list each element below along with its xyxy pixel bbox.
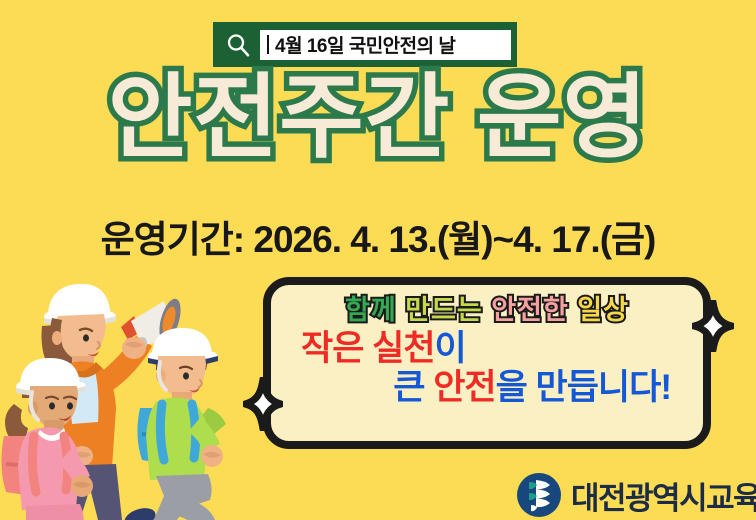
sparkle-icon: [692, 300, 734, 352]
slogan-line-2: 작은 실천이: [287, 329, 687, 368]
slogan-speech-bubble: 함께 만드는 안전한 일상 작은 실천이 큰 안전을 만듭니다!: [263, 277, 711, 449]
page-title: 안전주간 운영: [0, 72, 756, 164]
daejeon-education-office-emblem-icon: [516, 472, 562, 518]
slogan-line-3-red: 안전: [433, 368, 495, 407]
slogan-line-3-blue-a: 큰: [393, 368, 433, 407]
search-input-value: 4월 16일 국민안전의 날: [275, 31, 455, 58]
slogan-line-3: 큰 안전을 만듭니다!: [287, 368, 687, 407]
organization-name: 대전광역시교육청: [571, 473, 756, 518]
slogan-line-2-red: 작은 실천: [301, 329, 435, 368]
search-bar[interactable]: 4월 16일 국민안전의 날: [213, 22, 517, 67]
slogan-word-mandeuneun: 만드는: [405, 295, 483, 325]
slogan-line-2-blue: 이: [435, 329, 466, 368]
slogan-word-ilsang: 일상: [577, 295, 629, 325]
operating-period-text: 운영기간: 2026. 4. 13.(월)~4. 17.(금): [0, 209, 756, 263]
search-icon: [225, 32, 251, 58]
slogan-line-1: 함께 만드는 안전한 일상: [287, 295, 687, 325]
slogan-word-hamkke: 함께: [345, 295, 397, 325]
search-input[interactable]: 4월 16일 국민안전의 날: [260, 30, 511, 60]
organization-logo: 대전광역시교육청: [516, 472, 756, 518]
slogan-lines: 함께 만드는 안전한 일상 작은 실천이 큰 안전을 만듭니다!: [271, 295, 703, 408]
slogan-word-anjeonhan: 안전한: [491, 295, 569, 325]
text-caret: [267, 35, 269, 54]
safety-week-poster: 4월 16일 국민안전의 날 안전주간 운영 운영기간: 2026. 4. 13…: [0, 0, 756, 520]
slogan-line-3-blue-b: 을 만듭니다!: [496, 368, 671, 407]
three-people-with-safety-helmets-illustration: [0, 268, 252, 520]
